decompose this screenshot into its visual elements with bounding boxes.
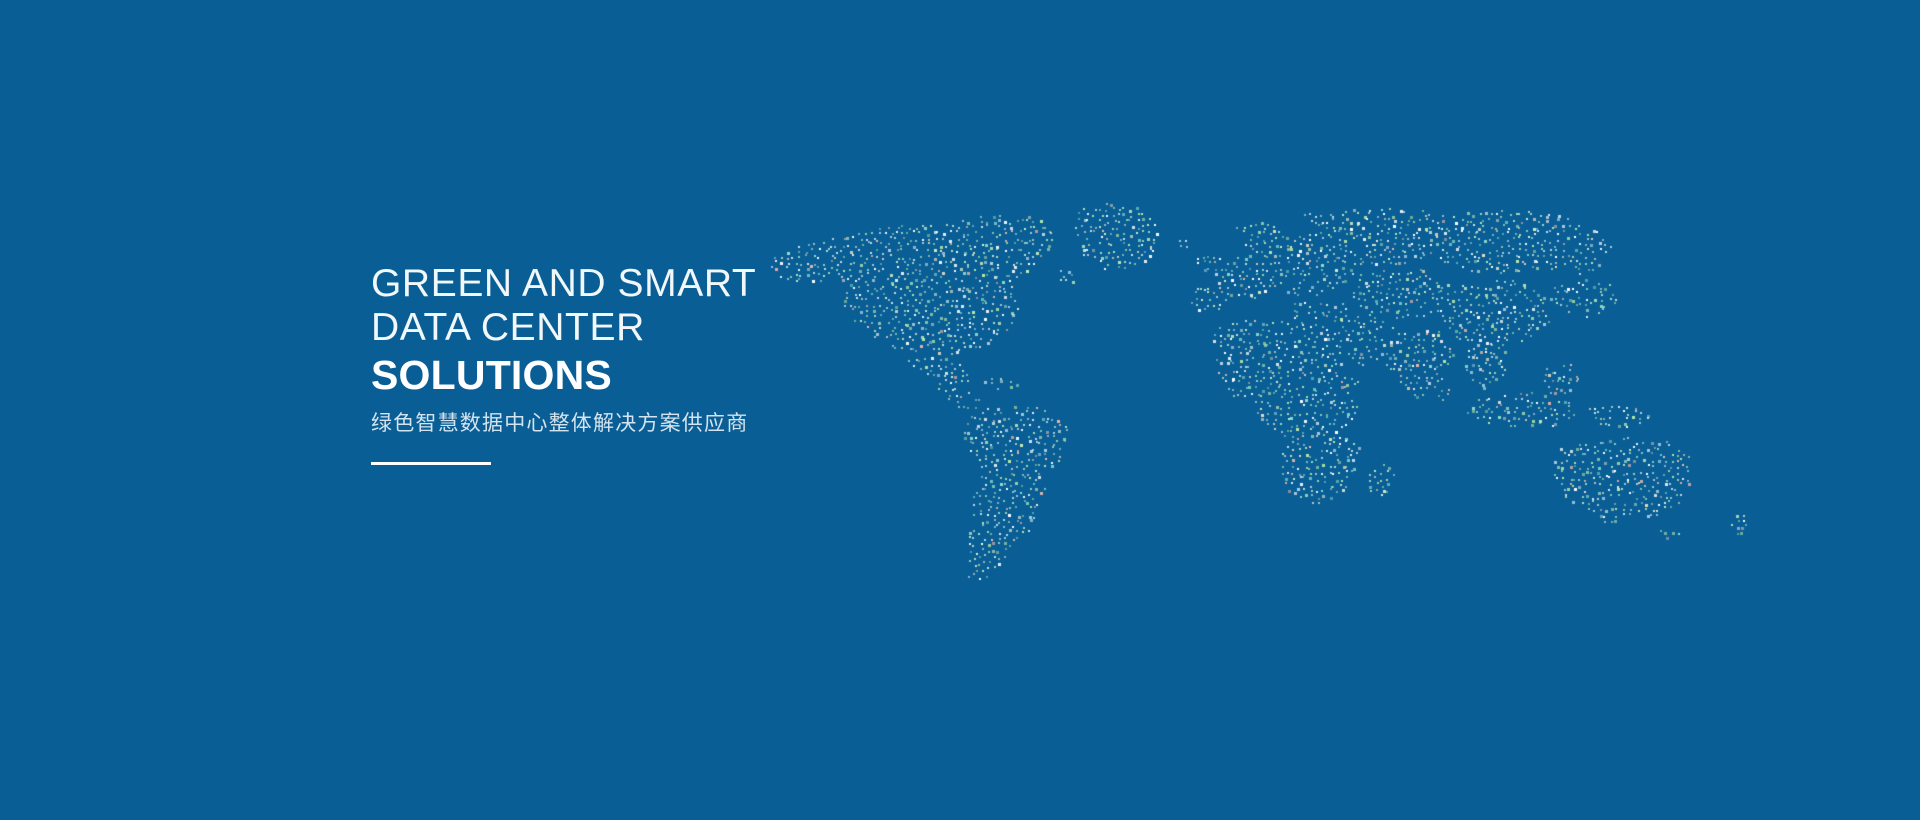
headline-line-1: GREEN AND SMART: [371, 262, 991, 306]
hero-banner: GREEN AND SMART DATA CENTER SOLUTIONS 绿色…: [0, 0, 1920, 820]
hero-subtitle-chinese: 绿色智慧数据中心整体解决方案供应商: [371, 410, 991, 438]
accent-rule-divider: [371, 462, 491, 465]
headline-line-2: DATA CENTER: [371, 306, 991, 350]
headline-line-3: SOLUTIONS: [371, 350, 991, 400]
hero-text-block: GREEN AND SMART DATA CENTER SOLUTIONS 绿色…: [371, 262, 991, 465]
